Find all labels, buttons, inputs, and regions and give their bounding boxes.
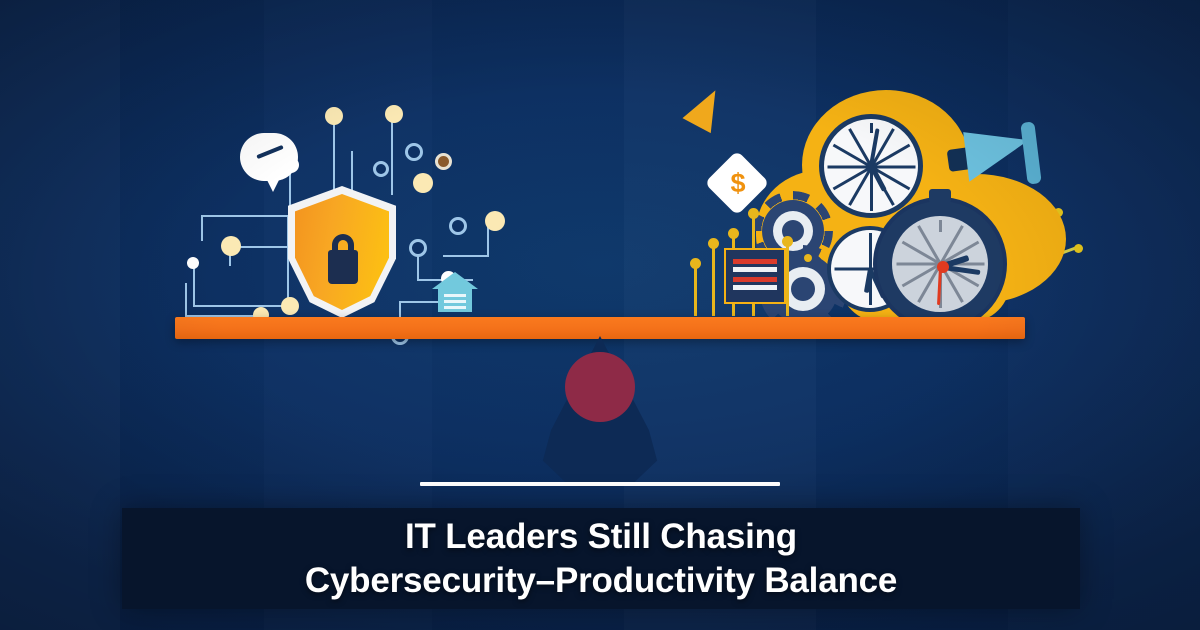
lollipop-head xyxy=(782,236,793,247)
title-line-1: IT Leaders Still Chasing xyxy=(405,515,797,559)
circuit-node xyxy=(187,257,199,269)
circuit-trace xyxy=(185,283,187,317)
balance-beam xyxy=(175,317,1025,339)
circuit-trace xyxy=(193,265,195,307)
circuit-trace xyxy=(443,255,489,257)
circuit-node xyxy=(435,153,452,170)
lollipop-head xyxy=(804,254,812,262)
house-bar xyxy=(444,294,466,297)
caption-bar: IT Leaders Still Chasing Cybersecurity–P… xyxy=(122,508,1080,609)
stopwatch-icon xyxy=(877,201,1003,327)
circuit-node xyxy=(413,173,433,193)
dollar-sign-icon: $ xyxy=(726,167,750,199)
lollipop-head xyxy=(690,258,701,269)
home-network-icon xyxy=(432,272,478,312)
padlock-body-icon xyxy=(328,250,358,284)
fulcrum-ball xyxy=(565,352,635,422)
house-bar xyxy=(444,300,466,303)
wall-clock-icon xyxy=(819,114,923,218)
stopwatch-face xyxy=(892,216,988,312)
circuit-node xyxy=(373,161,389,177)
page-title: IT Leaders Still Chasing Cybersecurity–P… xyxy=(122,508,1080,609)
circuit-trace xyxy=(193,305,289,307)
stopwatch-center-pin xyxy=(937,261,949,273)
lollipop-head xyxy=(708,238,719,249)
circuit-node xyxy=(449,217,467,235)
security-shield-icon xyxy=(288,186,396,318)
title-divider-rule xyxy=(420,482,780,486)
stopwatch-crown xyxy=(929,189,951,203)
circuit-trace xyxy=(201,215,289,217)
circuit-trace xyxy=(333,117,335,195)
doc-stripe xyxy=(733,285,777,290)
alert-bubble-tail-icon xyxy=(264,174,282,192)
circuit-trace xyxy=(201,215,203,241)
social-card-canvas: $ xyxy=(0,0,1200,630)
productivity-side-illustration: $ xyxy=(690,88,1060,320)
circuit-node xyxy=(405,143,423,161)
circuit-node xyxy=(385,105,403,123)
lollipop-stem xyxy=(694,266,697,316)
doc-stripe xyxy=(733,259,777,264)
lollipop-stem xyxy=(712,246,715,316)
house-roof xyxy=(432,272,478,289)
lollipop-head xyxy=(728,228,739,239)
lollipop-head xyxy=(748,208,759,219)
circuit-trace xyxy=(391,115,393,195)
house-bar xyxy=(444,306,466,309)
doc-stripe xyxy=(733,267,777,272)
circuit-node xyxy=(325,107,343,125)
burst-ray-head xyxy=(1074,244,1083,253)
circuit-trace xyxy=(487,227,489,257)
title-line-2: Cybersecurity–Productivity Balance xyxy=(305,559,897,603)
gear-hub xyxy=(791,277,815,301)
circuit-node xyxy=(485,211,505,231)
document-card-icon xyxy=(724,248,786,304)
lollipop-stem xyxy=(786,244,789,316)
doc-stripe xyxy=(733,277,777,282)
megaphone-lip-icon xyxy=(1020,121,1041,184)
burst-spark-icon xyxy=(682,83,729,133)
circuit-node xyxy=(409,239,427,257)
circuit-node xyxy=(221,236,241,256)
